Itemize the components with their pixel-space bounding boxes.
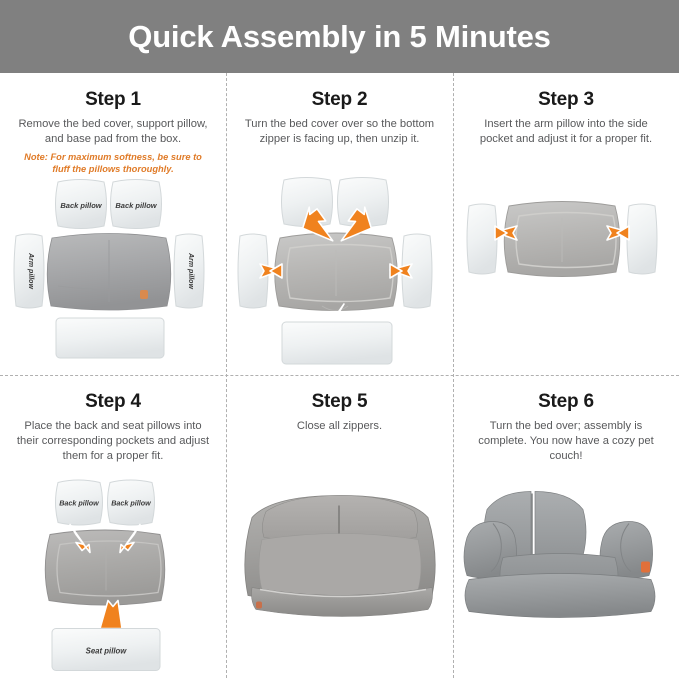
step-1-title: Step 1 bbox=[8, 89, 218, 111]
back-pillow-left: Back pillow bbox=[56, 480, 103, 525]
bed-cover-inverted bbox=[275, 233, 398, 311]
step-1-illustration: Back pillow Back pillow Arm pillow Arm p… bbox=[0, 169, 226, 375]
back-pillow-right: Back pillow bbox=[111, 180, 162, 229]
arm-pillow-left: Arm pillow bbox=[14, 234, 44, 308]
steps-grid: Step 1 Remove the bed cover, support pil… bbox=[0, 73, 679, 678]
svg-text:Back pillow: Back pillow bbox=[115, 201, 157, 210]
bed-cover bbox=[45, 530, 165, 605]
header-banner: Quick Assembly in 5 Minutes bbox=[0, 0, 679, 73]
step-6-title: Step 6 bbox=[461, 391, 671, 413]
step-3-illustration bbox=[453, 169, 679, 375]
step-2-title: Step 2 bbox=[234, 89, 445, 111]
step-4-description: Place the back and seat pillows into the… bbox=[8, 419, 218, 464]
back-pillow-right: Back pillow bbox=[108, 480, 155, 525]
svg-text:Arm pillow: Arm pillow bbox=[187, 252, 194, 289]
svg-text:Back pillow: Back pillow bbox=[60, 201, 102, 210]
assembly-infographic: Quick Assembly in 5 Minutes Step 1 Remov… bbox=[0, 0, 679, 678]
arrow-right bbox=[390, 264, 412, 278]
arm-pillow-right bbox=[627, 204, 657, 274]
back-pillow-left: Back pillow bbox=[56, 180, 107, 229]
step-cell-5: Step 5 Close all zippers. bbox=[226, 375, 453, 678]
step-cell-6: Step 6 Turn the bed over; assembly is co… bbox=[453, 375, 679, 678]
step-5-title: Step 5 bbox=[234, 391, 445, 413]
bed-cover bbox=[47, 234, 171, 311]
arm-pillow-right: Arm pillow bbox=[174, 234, 204, 308]
step-4-illustration: Back pillow Back pillow bbox=[0, 475, 226, 678]
step-2-description: Turn the bed cover over so the bottom zi… bbox=[234, 117, 445, 147]
step-cell-3: Step 3 Insert the arm pillow into the si… bbox=[453, 73, 679, 375]
step-2-illustration bbox=[226, 169, 453, 375]
svg-text:Arm pillow: Arm pillow bbox=[27, 252, 34, 289]
step-4-title: Step 4 bbox=[8, 391, 218, 413]
step-1-description: Remove the bed cover, support pillow, an… bbox=[8, 117, 218, 147]
step-5-description: Close all zippers. bbox=[234, 419, 445, 434]
page-title: Quick Assembly in 5 Minutes bbox=[128, 19, 550, 55]
base-pad bbox=[282, 322, 392, 364]
finished-pet-couch bbox=[464, 492, 655, 618]
assembled-bed-closed bbox=[245, 496, 435, 617]
bed-cover bbox=[504, 202, 620, 277]
step-5-illustration bbox=[226, 453, 453, 678]
step-cell-4: Step 4 Place the back and seat pillows i… bbox=[0, 375, 226, 678]
step-3-title: Step 3 bbox=[461, 89, 671, 111]
step-cell-1: Step 1 Remove the bed cover, support pil… bbox=[0, 73, 226, 375]
svg-text:Seat pillow: Seat pillow bbox=[86, 647, 128, 656]
svg-text:Back pillow: Back pillow bbox=[59, 499, 99, 508]
svg-text:Back pillow: Back pillow bbox=[111, 499, 151, 508]
seat-pillow: Seat pillow bbox=[52, 629, 160, 671]
step-6-illustration bbox=[453, 453, 679, 678]
step-3-description: Insert the arm pillow into the side pock… bbox=[461, 117, 671, 147]
base-pad bbox=[56, 318, 164, 358]
arrow-left bbox=[260, 264, 282, 278]
arm-pillow-left bbox=[467, 204, 497, 274]
step-cell-2: Step 2 Turn the bed cover over so the bo… bbox=[226, 73, 453, 375]
